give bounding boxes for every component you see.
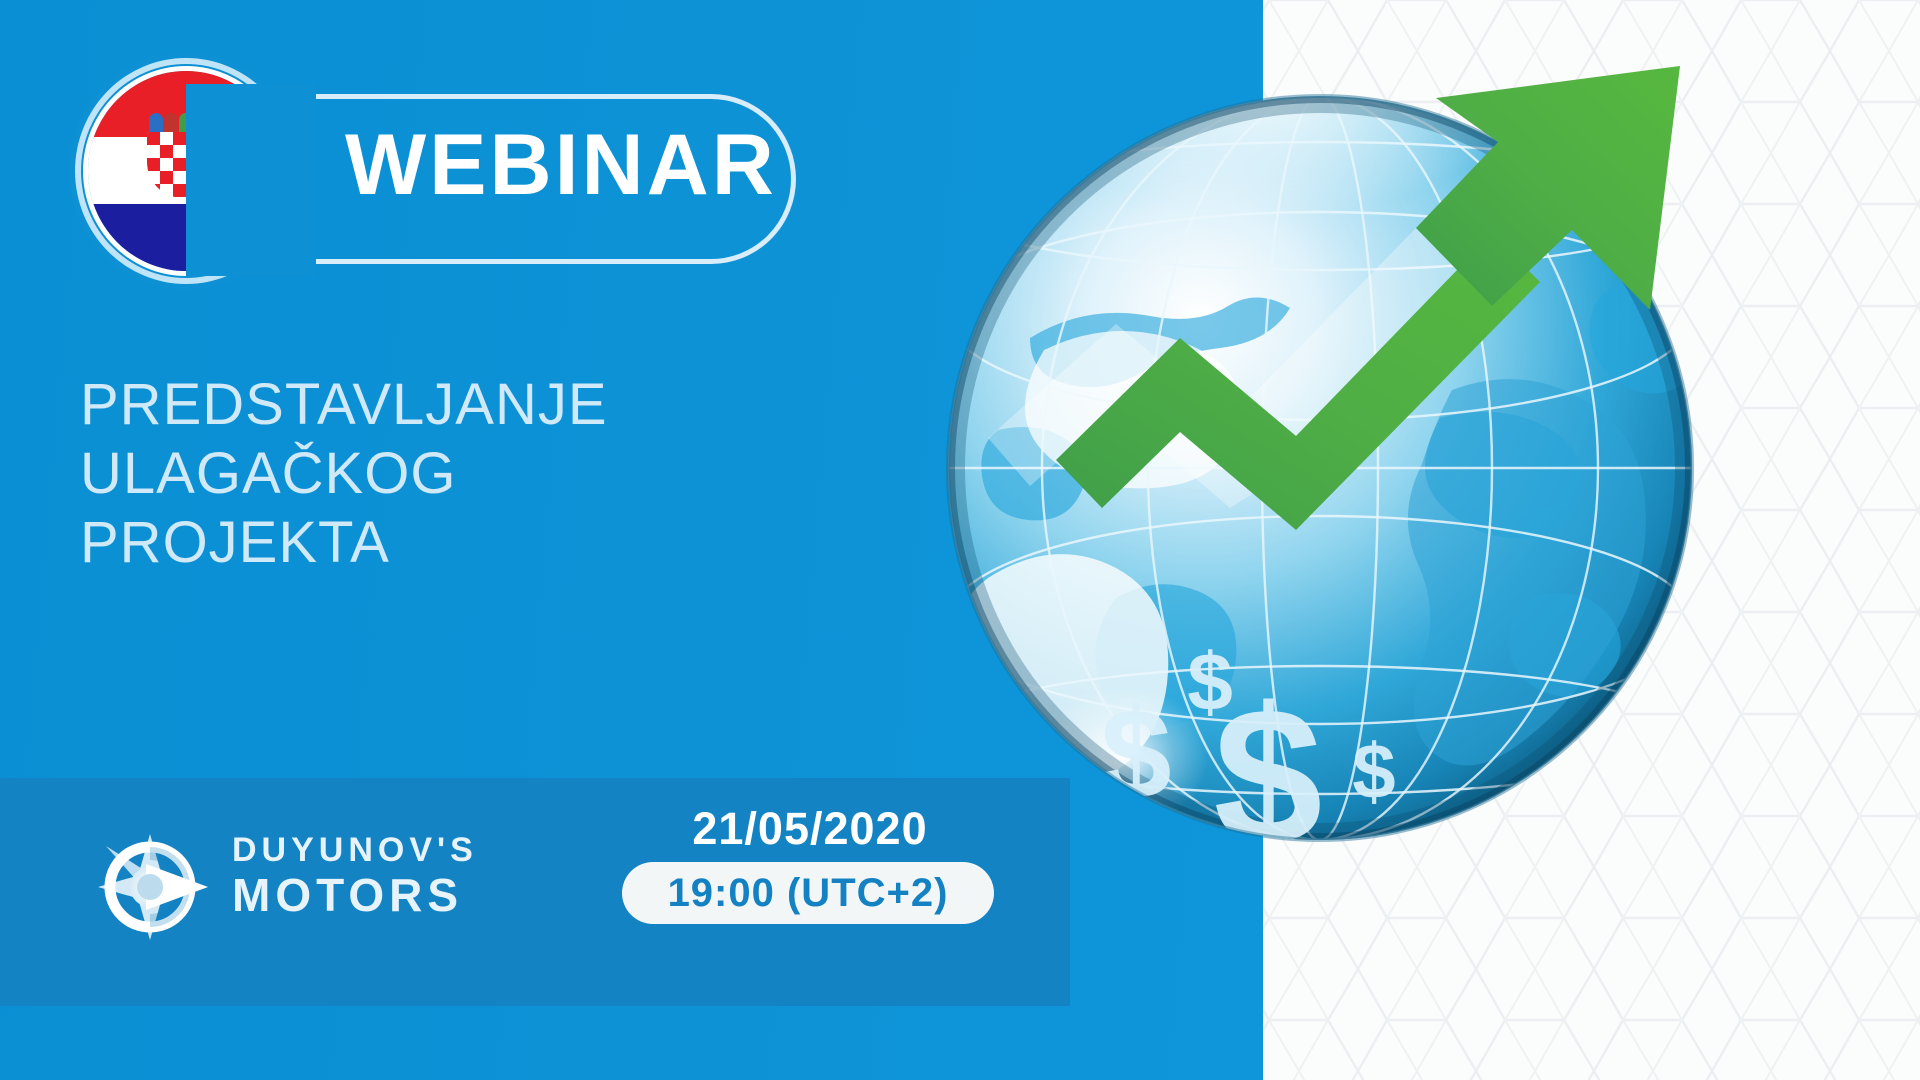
headline-line-1: PREDSTAVLJANJE [80,370,800,439]
duyunovs-motors-logo-icon [88,826,213,948]
headline-line-2: ULAGAČKOG [80,439,800,508]
page-title: PREDSTAVLJANJE ULAGAČKOG PROJEKTA [80,370,800,577]
svg-text:$: $ [1352,727,1395,815]
webinar-banner: $ $ $ $ [0,0,1920,1080]
event-time-badge: 19:00 (UTC+2) [622,862,994,924]
brand-name: DUYUNOV'S MOTORS [232,832,478,920]
webinar-label: WEBINAR [345,122,765,208]
event-time: 19:00 (UTC+2) [668,871,949,916]
headline-line-3: PROJEKTA [80,508,800,577]
svg-text:$: $ [1187,637,1233,728]
event-date: 21/05/2020 [660,803,960,855]
brand-line-2: MOTORS [232,871,478,919]
pill-mask [186,84,316,276]
brand-line-1: DUYUNOV'S [232,832,478,869]
